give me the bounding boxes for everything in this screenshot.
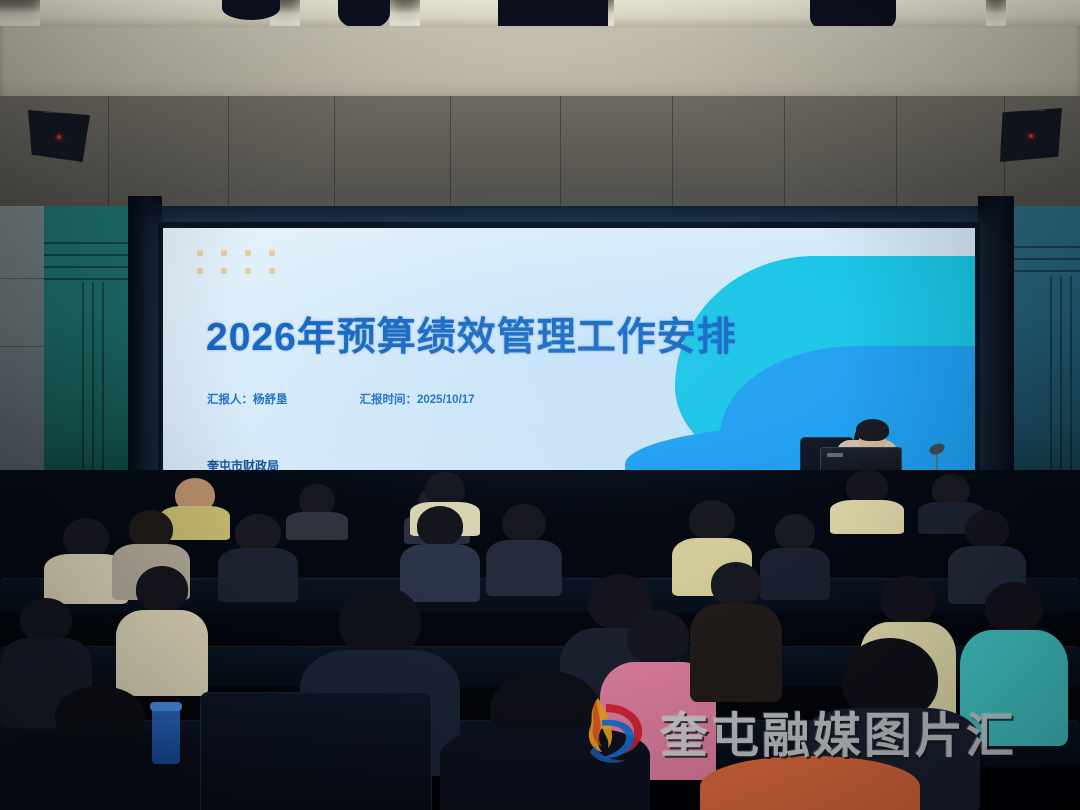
ceiling-soffit <box>0 26 1080 102</box>
wall-speaker-right <box>1000 108 1062 162</box>
dot <box>245 250 251 256</box>
slide-title: 2026年预算绩效管理工作安排 <box>206 306 737 362</box>
wall-panel-teal-right <box>1010 206 1080 506</box>
audience-person <box>486 504 562 596</box>
chair-back-foreground <box>200 692 432 810</box>
dot <box>221 250 227 256</box>
audience-person <box>218 514 298 602</box>
photo-canvas: 2026年预算绩效管理工作安排 汇报人：杨舒垦 汇报时间：2025/10/17 … <box>0 0 1080 810</box>
blue-cup <box>152 706 180 764</box>
upper-wall <box>0 96 1080 218</box>
presenter-hair <box>856 419 889 441</box>
dot <box>269 268 275 274</box>
wall-speaker-left <box>28 110 90 162</box>
slide-reporter: 汇报人：杨舒垦 <box>207 391 288 407</box>
watermark: 奎屯融媒图片汇 <box>572 694 1017 768</box>
dot <box>245 268 251 274</box>
slide-report-time: 汇报时间：2025/10/17 <box>360 391 475 407</box>
watermark-text: 奎屯融媒图片汇 <box>660 696 1017 766</box>
wall-panel-teal-left <box>44 206 140 506</box>
blue-cup-lid <box>150 702 182 711</box>
dot <box>197 268 203 274</box>
dot <box>221 268 227 274</box>
slide-decor-dot-grid <box>197 250 275 274</box>
audience-person <box>116 566 208 696</box>
dot <box>269 250 275 256</box>
audience-person <box>830 470 904 534</box>
slide-meta-row: 汇报人：杨舒垦 汇报时间：2025/10/17 <box>207 391 475 407</box>
pillar-right <box>978 196 1014 506</box>
pillar-left <box>128 196 162 506</box>
audience-person <box>690 562 782 702</box>
dot <box>197 250 203 256</box>
flame-swoosh-logo-icon <box>572 694 650 768</box>
